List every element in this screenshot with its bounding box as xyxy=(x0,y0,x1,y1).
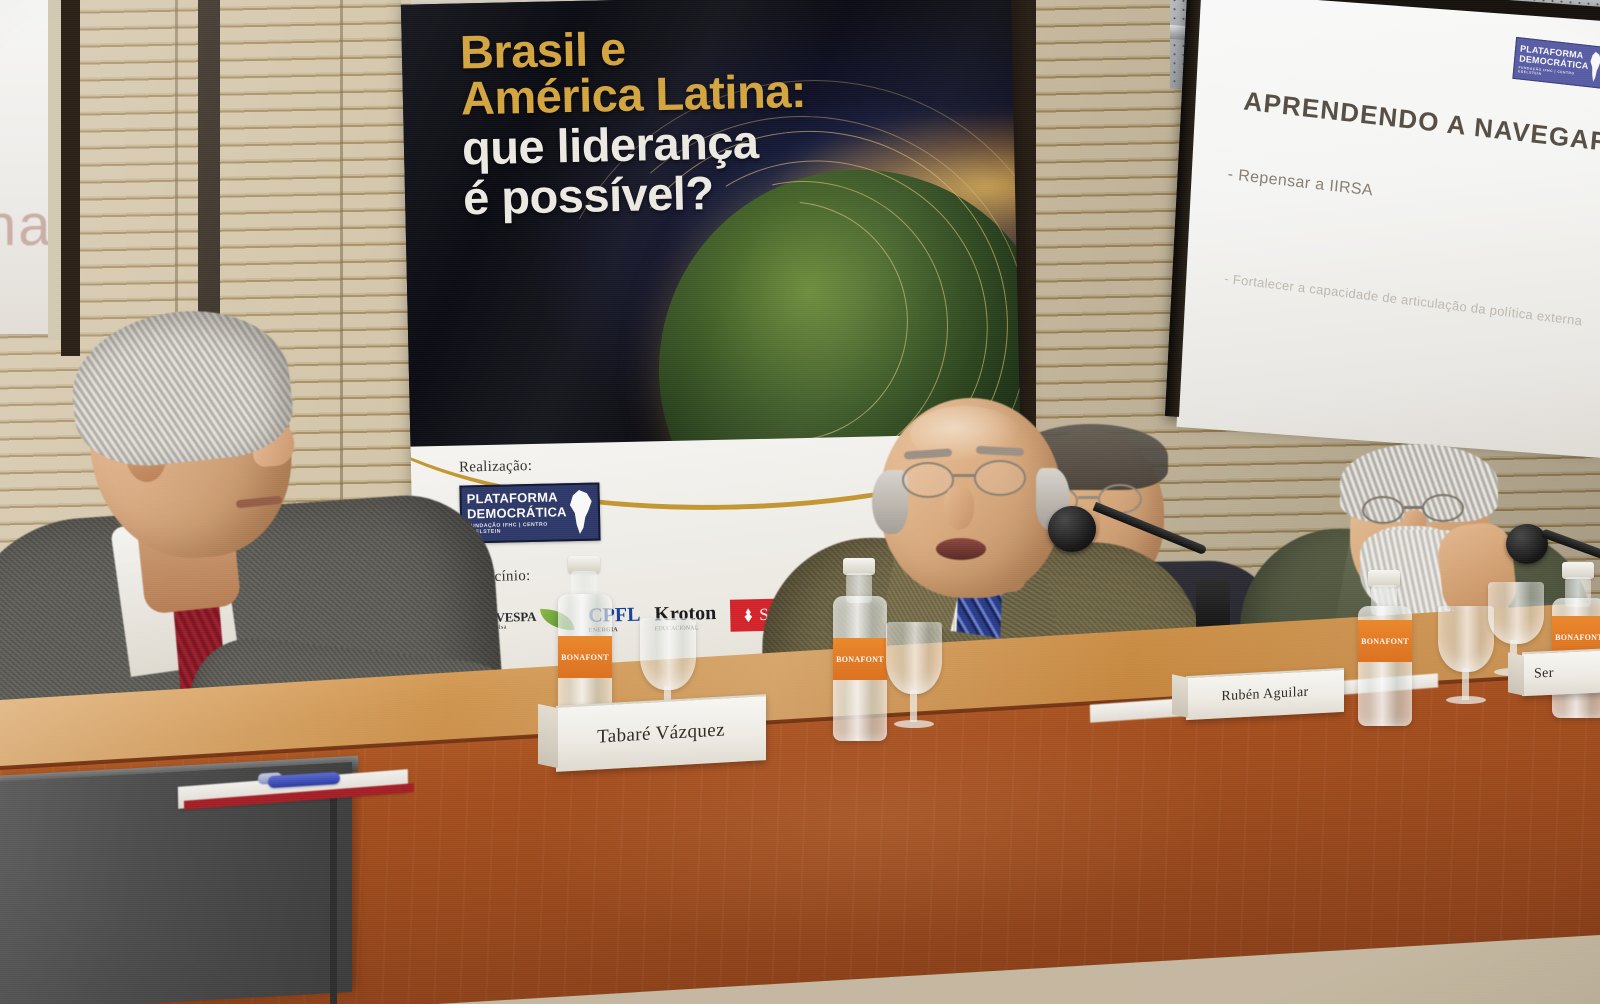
p2-nose xyxy=(944,486,974,530)
bottle-brand-text: BONAFONT xyxy=(1555,633,1600,642)
p2-mouth-open xyxy=(936,538,986,560)
nameplate-tabare-vazquez: Tabaré Vázquez xyxy=(556,694,766,772)
slide-plataforma-logo: PLATAFORMA DEMOCRÁTICA FUNDAÇÃO IFHC | C… xyxy=(1512,37,1600,89)
banner-title-block: Brasil e América Latina: que liderança é… xyxy=(459,19,963,222)
mic-windscreen xyxy=(1048,506,1096,552)
realizacao-label: Realização: xyxy=(459,458,533,477)
conference-panel-photo: na Brasil e América Latina: que lideranç… xyxy=(0,0,1600,1004)
glass-bowl xyxy=(640,618,696,690)
santander-flame-icon xyxy=(742,608,754,622)
projection-screen: PLATAFORMA DEMOCRÁTICA FUNDAÇÃO IFHC | C… xyxy=(1165,0,1600,448)
banner-upper-panel: Brasil e América Latina: que liderança é… xyxy=(401,0,1021,460)
slide-bullet-1: - Repensar a IIRSA xyxy=(1227,166,1374,200)
slide-logo-text: PLATAFORMA DEMOCRÁTICA FUNDAÇÃO IFHC | C… xyxy=(1518,43,1590,81)
bottle-label: BONAFONT xyxy=(1358,620,1412,662)
nameplate-2-side xyxy=(1172,674,1188,717)
p4-glasses-bridge xyxy=(1404,506,1422,509)
logo-text: PLATAFORMA DEMOCRÁTICA FUNDAÇÃO IFHC | C… xyxy=(467,490,568,536)
bottle-label: BONAFONT xyxy=(833,638,887,680)
left-projection-screen: na xyxy=(0,0,50,334)
glass-bowl xyxy=(1438,606,1494,672)
banner-title-line-2: América Latina: xyxy=(460,65,961,122)
bottle-brand-text: BONAFONT xyxy=(561,653,609,662)
bottle-brand-text: BONAFONT xyxy=(836,655,884,664)
glass-bowl xyxy=(1488,582,1544,644)
mic-windscreen xyxy=(1506,524,1548,564)
glass-foot xyxy=(894,720,934,728)
p4-glasses-left-lens xyxy=(1362,496,1404,524)
nameplate-ruben-aguilar: Rubén Aguilar xyxy=(1186,668,1344,720)
bottle-brand-text: BONAFONT xyxy=(1361,637,1409,646)
nameplate-1-side xyxy=(538,704,558,768)
nameplate-cropped-right: Ser xyxy=(1522,648,1600,696)
p3-glasses-bridge xyxy=(1078,496,1098,499)
p2-glasses-right-lens xyxy=(974,460,1026,496)
left-screen-dark-edge xyxy=(61,0,80,356)
glass-stem xyxy=(910,690,917,722)
slide-surface: PLATAFORMA DEMOCRÁTICA FUNDAÇÃO IFHC | C… xyxy=(1176,0,1600,458)
p4-glasses-right-lens xyxy=(1422,494,1464,522)
logo-line-2: DEMOCRÁTICA xyxy=(467,504,567,521)
nameplate-text: Ser xyxy=(1534,666,1554,683)
plataforma-democratica-logo: PLATAFORMA DEMOCRÁTICA FUNDAÇÃO IFHC | C… xyxy=(459,483,600,544)
p2-glasses-bridge xyxy=(953,474,975,477)
logo-footer: FUNDAÇÃO IFHC | CENTRO EDELSTEIN xyxy=(467,522,567,536)
nameplate-text: Tabaré Vázquez xyxy=(597,719,725,748)
left-screen-text: na xyxy=(0,192,53,259)
slide-bullet-2: - Fortalecer a capacidade de articulação… xyxy=(1224,271,1583,329)
glass-foot xyxy=(1446,696,1486,704)
podium-seam xyxy=(330,782,337,1004)
slide-title: APRENDENDO A NAVEGAR xyxy=(1242,86,1600,159)
nameplate-text: Rubén Aguilar xyxy=(1221,685,1308,706)
glass-bowl xyxy=(886,622,942,694)
latin-america-map-icon xyxy=(567,490,594,535)
banner-title-line-3: que liderança xyxy=(462,114,963,172)
left-screen-frame xyxy=(48,0,61,340)
nameplate-3-side xyxy=(1508,652,1524,695)
bottle-label: BONAFONT xyxy=(558,636,612,678)
